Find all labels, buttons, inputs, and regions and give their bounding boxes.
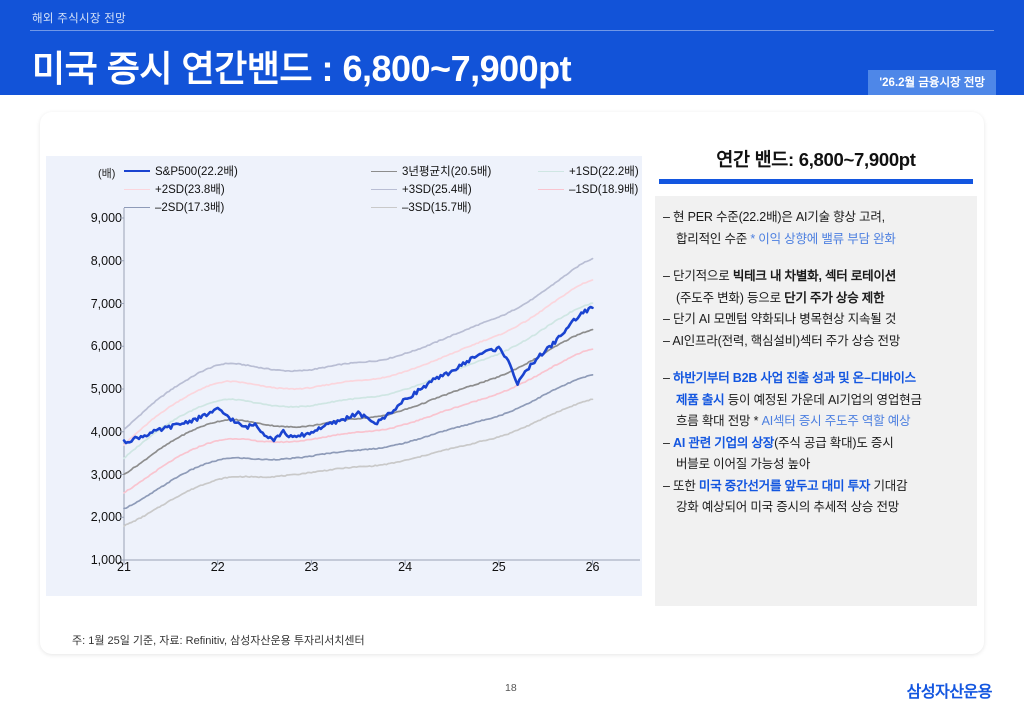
page-title: 미국 증시 연간밴드 : 6,800~7,900pt [32,40,571,92]
chart-line-band [124,259,593,430]
panel-text-plain: – 단기적으로 [663,269,733,283]
company-logo: 삼성자산운용 [907,678,992,702]
panel-text-plain: – [663,371,673,385]
page-header: 해외 주식시장 전망 미국 증시 연간밴드 : 6,800~7,900pt '2… [0,0,1024,95]
x-axis-tick-label: 22 [211,560,225,574]
panel-text-line: 제품 출시 등이 예정된 가운데 AI기업의 영업현금 [663,390,969,412]
panel-text-accent: * 이익 상향에 밸류 부담 완화 [750,232,895,246]
report-badge: '26.2월 금융시장 전망 [868,70,996,95]
summary-panel-body: – 현 PER 수준(22.2배)은 AI기술 향상 고려,합리적인 수준 * … [655,196,977,606]
panel-text-line: – AI 관련 기업의 상장(주식 공급 확대)도 증시 [663,433,969,455]
panel-text-accent-bold: AI 관련 기업의 상장 [673,436,774,450]
panel-text-plain: – 현 PER 수준(22.2배)은 AI기술 향상 고려, [663,210,885,224]
panel-text-accent-bold: 하반기부터 B2B 사업 진출 성과 및 온–디바이스 [673,371,916,385]
panel-text-line: (주도주 변화) 등으로 단기 주가 상승 제한 [663,288,969,310]
panel-text-plain: 등이 예정된 가운데 AI기업의 영업현금 [724,393,921,407]
panel-text-line: – 현 PER 수준(22.2배)은 AI기술 향상 고려, [663,207,969,229]
panel-text-line: 합리적인 수준 * 이익 상향에 밸류 부담 완화 [663,229,969,251]
summary-panel-title: 연간 밴드: 6,800~7,900pt [655,146,977,172]
panel-text-plain: – [663,436,673,450]
panel-text-emphasis: 빅테크 내 차별화, 섹터 로테이션 [733,269,896,283]
chart-line-band [124,349,593,493]
chart-footnote: 주: 1월 25일 기준, 자료: Refinitiv, 삼성자산운용 투자리서… [72,632,365,648]
panel-text-line: 흐름 확대 전망 * AI섹터 증시 주도주 역할 예상 [663,411,969,433]
panel-bullet-block: – 현 PER 수준(22.2배)은 AI기술 향상 고려,합리적인 수준 * … [663,207,969,250]
panel-text-plain: – 또한 [663,479,699,493]
panel-bullet-block: – 하반기부터 B2B 사업 진출 성과 및 온–디바이스제품 출시 등이 예정… [663,368,969,519]
panel-bullet-block: – 단기적으로 빅테크 내 차별화, 섹터 로테이션(주도주 변화) 등으로 단… [663,266,969,352]
panel-text-plain: 흐름 확대 전망 * [676,414,762,428]
panel-text-plain: – 단기 AI 모멘텀 약화되나 병목현상 지속될 것 [663,312,896,326]
panel-text-line: 강화 예상되어 미국 증시의 추세적 상승 전망 [663,497,969,519]
chart-svg [46,156,642,596]
header-divider [30,30,994,31]
panel-text-line: 버블로 이어질 가능성 높아 [663,454,969,476]
panel-text-accent-bold: 미국 중간선거를 앞두고 대미 투자 [699,479,870,493]
x-axis-tick-label: 23 [304,560,318,574]
panel-text-accent-bold: 제품 출시 [676,393,724,407]
panel-text-emphasis: 단기 주가 상승 제한 [784,291,884,305]
panel-text-plain: (주식 공급 확대)도 증시 [774,436,893,450]
panel-text-plain: (주도주 변화) 등으로 [676,291,784,305]
panel-text-accent: AI섹터 증시 주도주 역할 예상 [762,414,911,428]
panel-text-line: – AI인프라(전력, 핵심설비)섹터 주가 상승 전망 [663,331,969,353]
panel-text-plain: 버블로 이어질 가능성 높아 [676,457,810,471]
x-axis-tick-label: 21 [117,560,131,574]
panel-text-plain: 강화 예상되어 미국 증시의 추세적 상승 전망 [676,500,899,514]
panel-text-line: – 단기적으로 빅테크 내 차별화, 섹터 로테이션 [663,266,969,288]
panel-block-gap [663,352,969,368]
chart-line-band [124,330,593,475]
panel-block-gap [663,250,969,266]
panel-text-plain: – AI인프라(전력, 핵심설비)섹터 주가 상승 전망 [663,334,900,348]
panel-text-line: – 또한 미국 중간선거를 앞두고 대미 투자 기대감 [663,476,969,498]
x-axis-tick-label: 26 [586,560,600,574]
breadcrumb: 해외 주식시장 전망 [32,10,126,26]
summary-panel: 연간 밴드: 6,800~7,900pt – 현 PER 수준(22.2배)은 … [655,146,977,628]
chart-container: (배) S&P500(22.2배)+2SD(23.8배)–2SD(17.3배) … [46,156,642,626]
summary-panel-underline [659,179,973,184]
x-axis-tick-label: 24 [398,560,412,574]
panel-text-line: – 단기 AI 모멘텀 약화되나 병목현상 지속될 것 [663,309,969,331]
page-number: 18 [505,682,517,694]
panel-text-plain: 합리적인 수준 [676,232,750,246]
x-axis-tick-label: 25 [492,560,506,574]
panel-text-line: – 하반기부터 B2B 사업 진출 성과 및 온–디바이스 [663,368,969,390]
content-card: (배) S&P500(22.2배)+2SD(23.8배)–2SD(17.3배) … [40,112,984,654]
panel-text-plain: 기대감 [870,479,907,493]
